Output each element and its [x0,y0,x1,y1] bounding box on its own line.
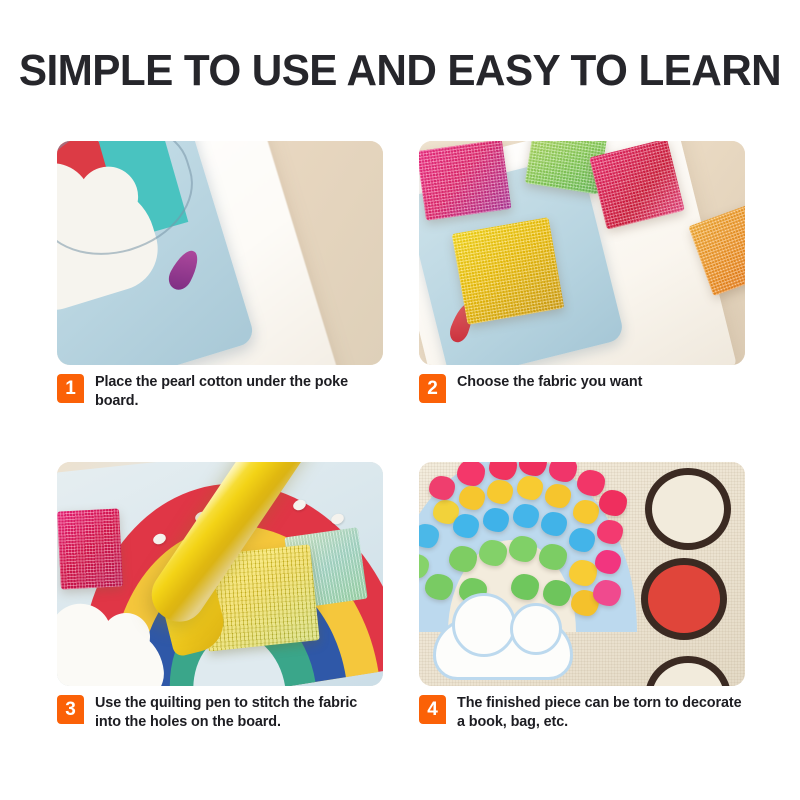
step-caption-text-4: The finished piece can be torn to decora… [457,694,745,732]
step-photo-2 [419,141,745,365]
fabric-puff [513,504,539,528]
step-number-badge-3: 3 [57,695,84,724]
step-caption-text-2: Choose the fabric you want [457,373,642,392]
fabric-square-pink [419,141,511,221]
step-photo-1 [57,141,383,365]
flower-petal [645,468,731,550]
fabric-puff [511,574,539,600]
flower-outline-shape [645,468,731,550]
fabric-puff [569,560,597,586]
step-number-badge-2: 2 [419,374,446,403]
fabric-puff [479,540,507,566]
fabric-square-pink [57,508,123,589]
step-card-2: 2 Choose the fabric you want [419,141,745,416]
step-number-badge-1: 1 [57,374,84,403]
step-caption-text-3: Use the quilting pen to stitch the fabri… [95,694,383,732]
fabric-puff [483,508,509,532]
fabric-puff [569,528,595,552]
flower-petal [641,558,727,640]
fabric-puff [449,546,477,572]
flower-red-shape [641,558,727,640]
page-title: SIMPLE TO USE AND EASY TO LEARN [16,46,784,96]
fabric-puff [595,550,621,574]
fabric-puff [541,512,567,536]
step-caption-2: 2 Choose the fabric you want [419,373,745,403]
fabric-puff [487,480,513,504]
step-caption-3: 3 Use the quilting pen to stitch the fab… [57,694,383,732]
fabric-puff [577,470,605,496]
fabric-puff [425,574,453,600]
fabric-puff [543,580,571,606]
steps-grid: 1 Place the pearl cotton under the poke … [57,141,745,756]
step-photo-4 [419,462,745,686]
fabric-puff [509,536,537,562]
instruction-infographic: SIMPLE TO USE AND EASY TO LEARN 1 Place … [0,0,800,800]
fabric-puff [459,486,485,510]
fabric-puff [599,490,627,516]
step-card-4: 4 The finished piece can be torn to deco… [419,462,745,737]
cloud-shape [433,618,573,680]
step-number-badge-4: 4 [419,695,446,724]
fabric-puff [453,514,479,538]
fabric-puff [517,476,543,500]
fabric-puff [545,484,571,508]
step-caption-1: 1 Place the pearl cotton under the poke … [57,373,383,411]
step-caption-text-1: Place the pearl cotton under the poke bo… [95,373,383,411]
fabric-puff [539,544,567,570]
flower-petal [645,656,731,686]
flower-outline-shape-2 [645,656,731,686]
fabric-square-yellow [452,217,564,325]
fabric-puff [597,520,623,544]
step-card-3: 3 Use the quilting pen to stitch the fab… [57,462,383,737]
fabric-puff [429,476,455,500]
fabric-puff [593,580,621,606]
step-photo-3 [57,462,383,686]
fabric-puff [573,500,599,524]
step-caption-4: 4 The finished piece can be torn to deco… [419,694,745,732]
step-card-1: 1 Place the pearl cotton under the poke … [57,141,383,416]
fabric-puff [457,462,485,486]
